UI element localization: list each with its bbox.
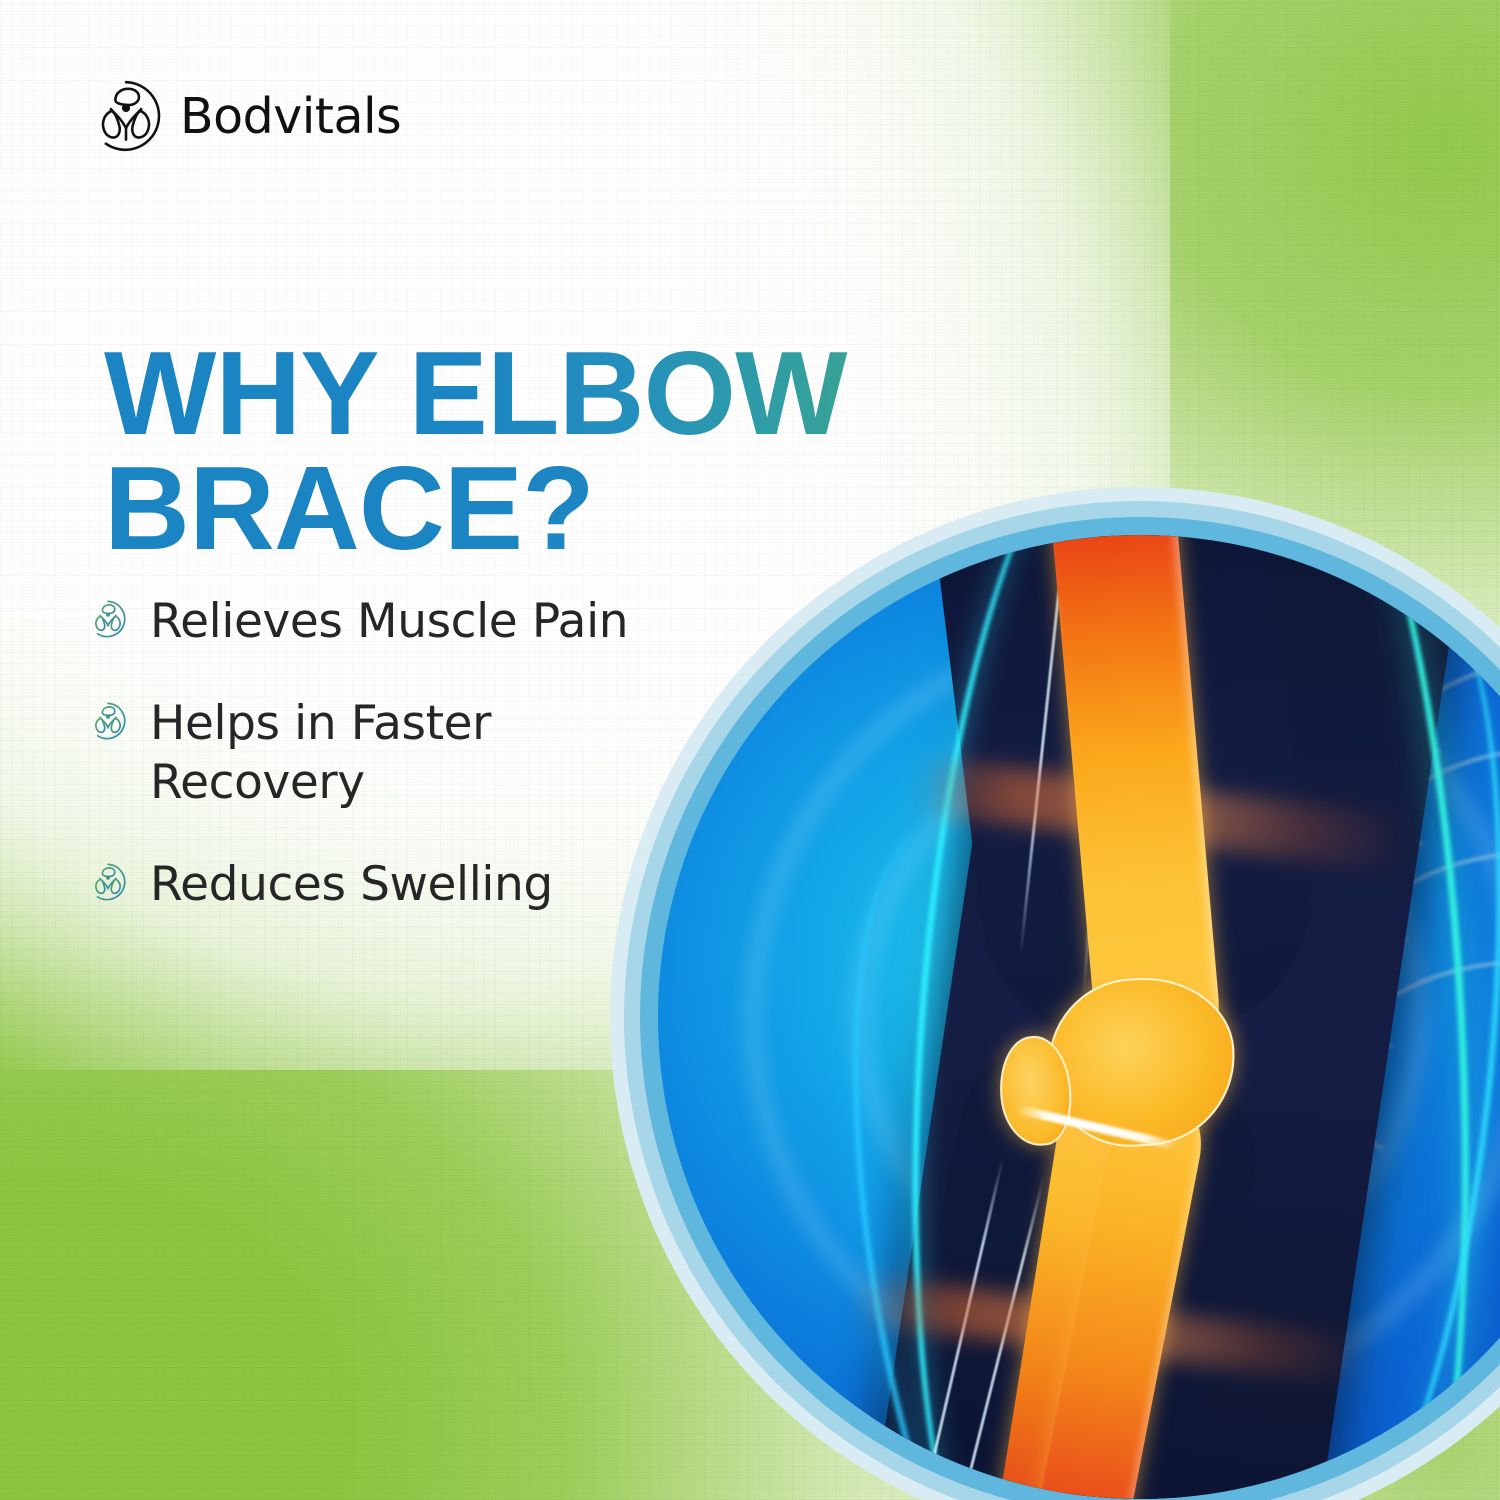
elbow-joint-xray-illustration	[610, 487, 1500, 1500]
artwork-clip	[0, 0, 1500, 1500]
promo-banner: Bodvitals WHY ELBOW BRACE?	[0, 0, 1500, 1500]
